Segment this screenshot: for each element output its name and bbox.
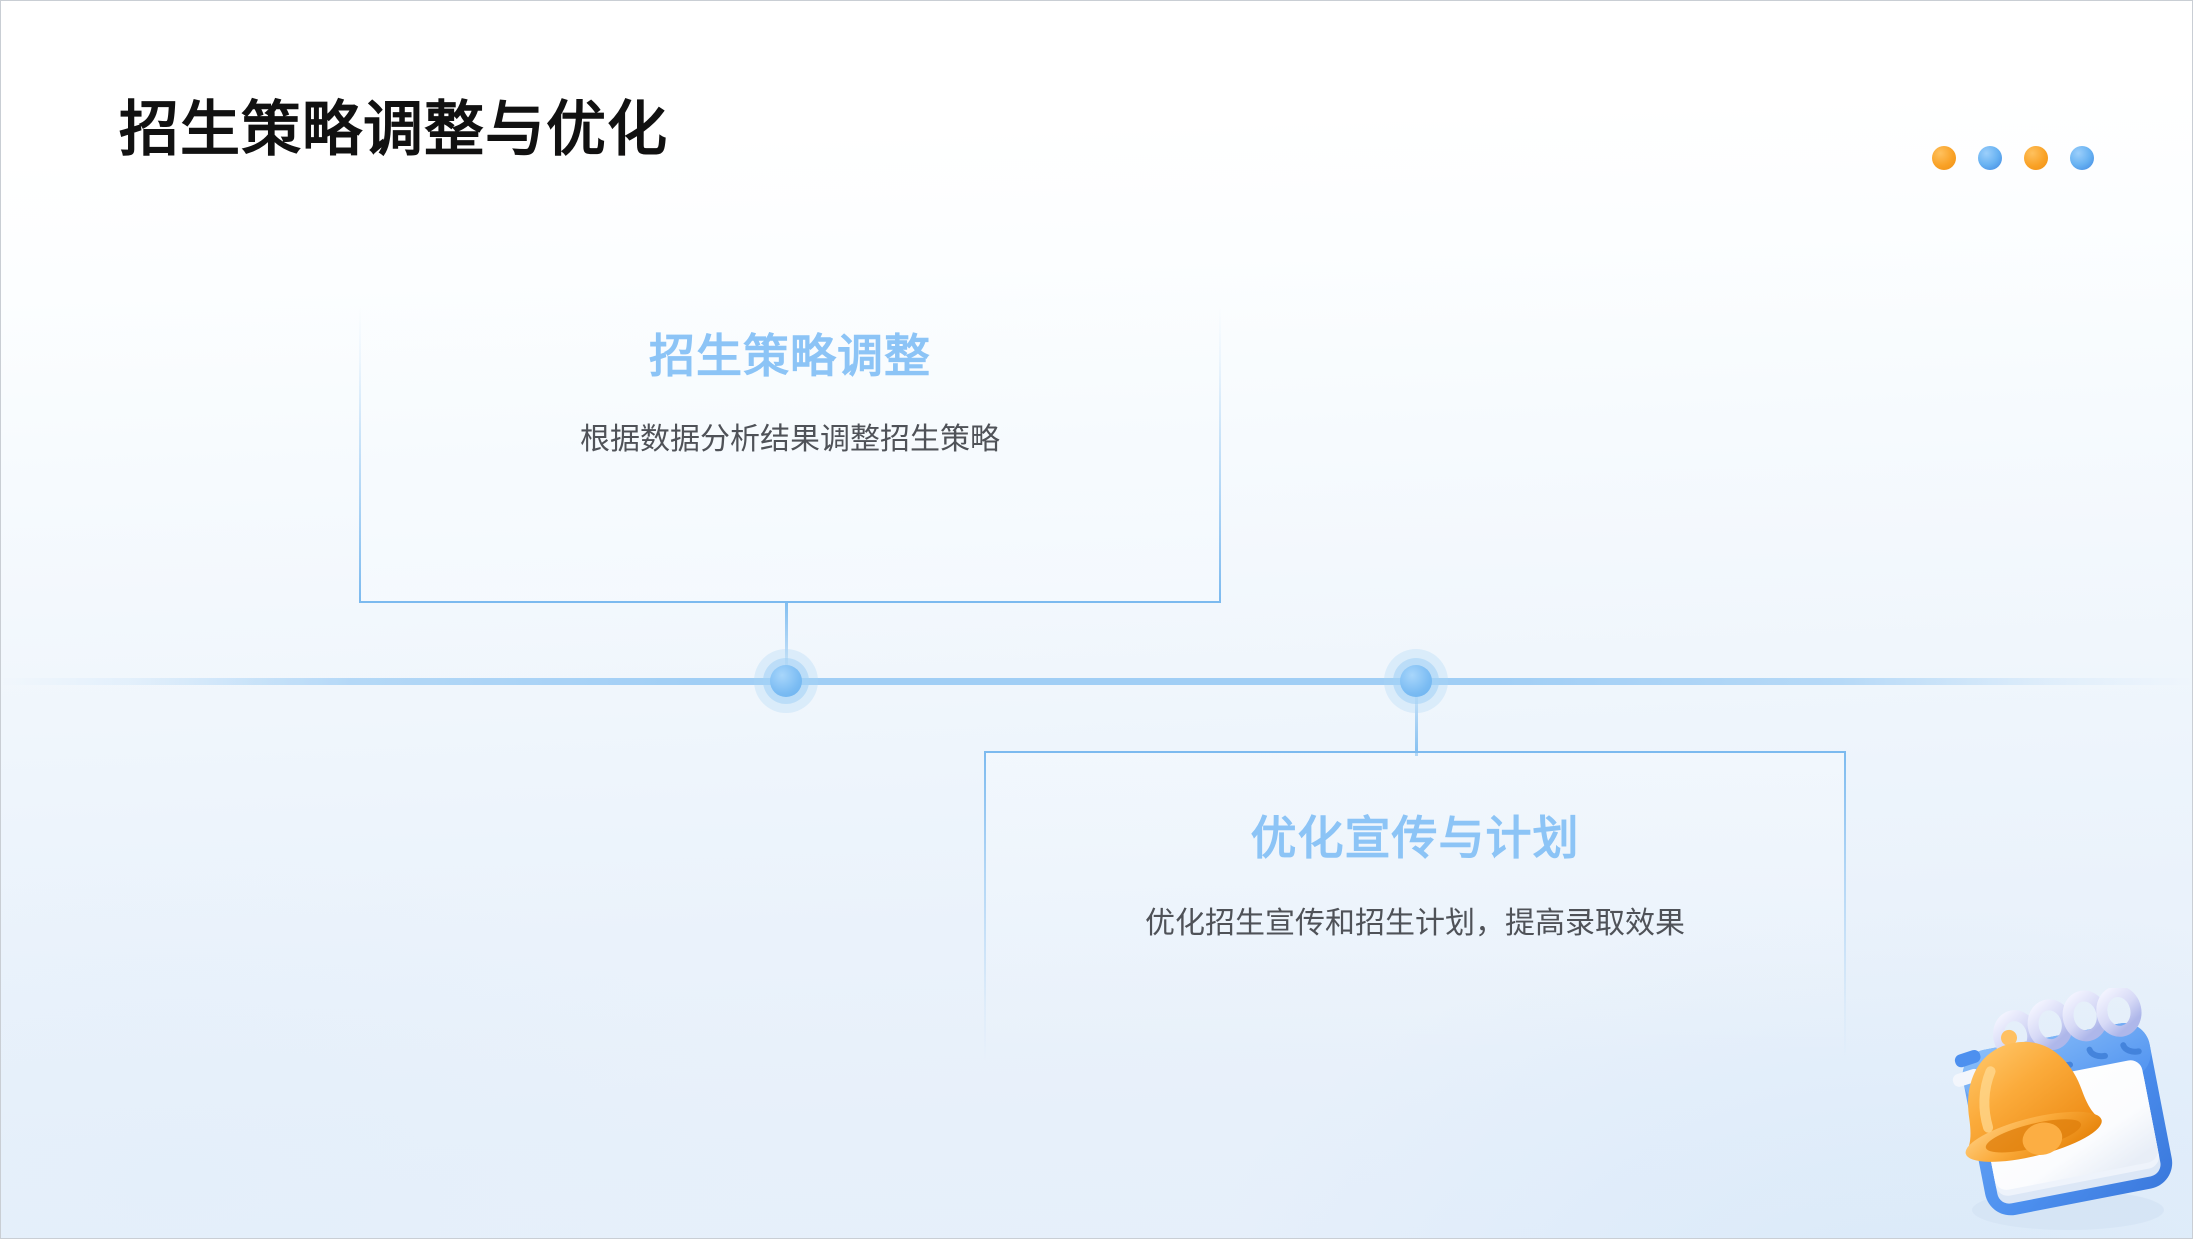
card-2-left-edge [984,751,986,1061]
header-dot-orange-2 [2024,146,2048,170]
card-2-description: 优化招生宣传和招生计划，提高录取效果 [1018,902,1812,946]
card-1-left-edge [359,307,361,603]
card-1-description: 根据数据分析结果调整招生策略 [393,418,1187,462]
notepad-bell-icon [1936,988,2186,1238]
timeline-node-1-core [770,665,802,697]
strategy-card-1[interactable]: 招生策略调整 根据数据分析结果调整招生策略 [359,307,1221,603]
card-1-title: 招生策略调整 [393,329,1187,384]
timeline-axis [1,678,2192,685]
card-1-bottom-edge [359,601,1221,603]
timeline-node-2-core [1400,665,1432,697]
timeline-node-2-ring [1393,658,1439,704]
header-dot-group [1932,146,2094,170]
timeline-node-2[interactable] [1384,649,1448,713]
timeline-node-1-ring [763,658,809,704]
card-2-top-edge [984,751,1846,753]
timeline-node-1[interactable] [754,649,818,713]
slide-root: 招生策略调整与优化 招生策略调整 根据数据分析结果调整招生策略 优化宣传与计划 … [0,0,2193,1239]
page-title: 招生策略调整与优化 [119,97,668,163]
strategy-card-2[interactable]: 优化宣传与计划 优化招生宣传和招生计划，提高录取效果 [984,751,1846,1061]
header-dot-blue-2 [2070,146,2094,170]
card-2-right-edge [1844,751,1846,1061]
card-1-right-edge [1219,307,1221,603]
card-2-title: 优化宣传与计划 [1018,811,1812,866]
header-dot-blue-1 [1978,146,2002,170]
header-dot-orange-1 [1932,146,1956,170]
